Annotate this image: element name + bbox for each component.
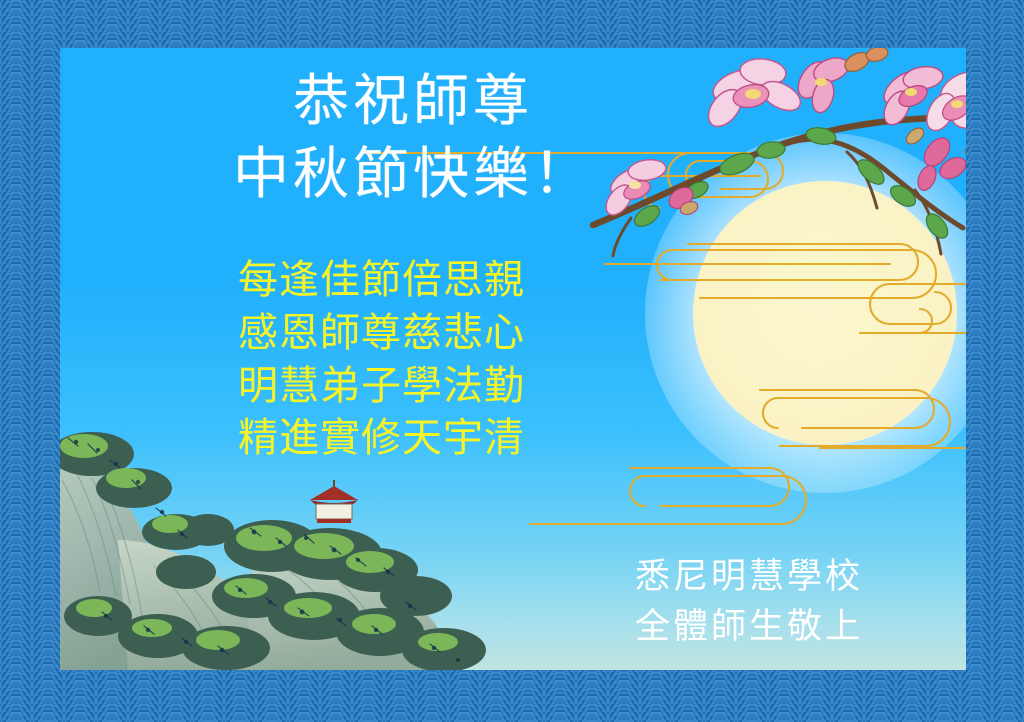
- pavilion: [310, 480, 358, 523]
- poem-line-4: 精進實修天宇清: [238, 412, 558, 465]
- poem-line-2: 感恩師尊慈悲心: [238, 307, 558, 360]
- greeting-card: 恭祝師尊 中秋節快樂！ 每逢佳節倍思親 感恩師尊慈悲心 明慧弟子學法勤 精進實修…: [0, 0, 1024, 722]
- signature-line-2: 全體師生敬上: [635, 603, 875, 653]
- card-poem: 每逢佳節倍思親 感恩師尊慈悲心 明慧弟子學法勤 精進實修天宇清: [238, 254, 558, 465]
- poem-line-1: 每逢佳節倍思親: [238, 254, 558, 307]
- title-line-2: 中秋節快樂！: [178, 139, 648, 212]
- poem-line-3: 明慧弟子學法勤: [238, 360, 558, 413]
- card-title: 恭祝師尊 中秋節快樂！: [178, 66, 648, 212]
- signature-line-1: 悉尼明慧學校: [635, 553, 875, 603]
- card-signature: 悉尼明慧學校 全體師生敬上: [635, 553, 875, 652]
- title-line-1: 恭祝師尊: [178, 66, 648, 139]
- card-inner-panel: 恭祝師尊 中秋節快樂！ 每逢佳節倍思親 感恩師尊慈悲心 明慧弟子學法勤 精進實修…: [60, 48, 966, 670]
